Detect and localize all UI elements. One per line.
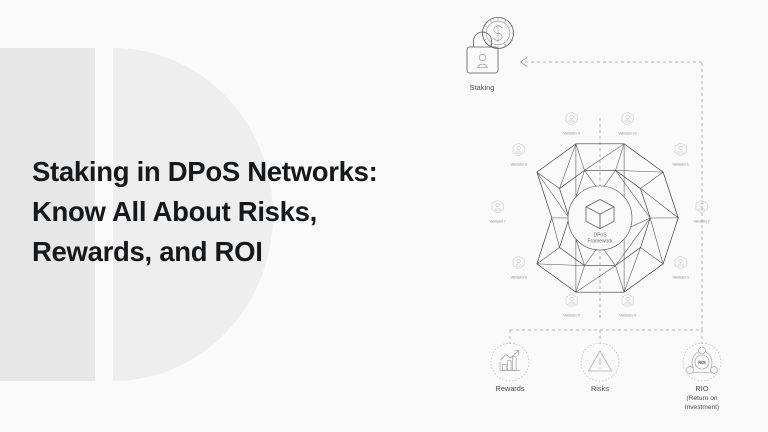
title-line-2: Know All About Risks,	[32, 192, 452, 232]
bar-chart-growth-icon	[500, 351, 520, 371]
node-validator-1[interactable]: Validator 1	[672, 143, 689, 167]
node-rio[interactable]: ROI RIO (Return on Investment)	[683, 343, 721, 411]
node-risks[interactable]: Risks	[581, 343, 619, 393]
node-validator-9[interactable]: Validator 9	[563, 112, 580, 136]
risks-label: Risks	[591, 384, 609, 393]
dpos-diagram: Staking	[440, 0, 768, 432]
node-validator-7[interactable]: Validator 7	[489, 200, 506, 224]
page-title: Staking in DPoS Networks: Know All About…	[32, 152, 452, 272]
validator-1-label: Validator 1	[672, 163, 689, 167]
validator-9-label: Validator 9	[563, 132, 580, 136]
validator-5-label: Validator 5	[563, 314, 580, 318]
title-line-1: Staking in DPoS Networks:	[32, 152, 452, 192]
validator-2-label: Validator 2	[693, 220, 710, 224]
node-validator-8[interactable]: Validator 8	[510, 143, 527, 167]
title-line-3: Rewards, and ROI	[32, 232, 452, 272]
node-validator-6[interactable]: Validator 6	[510, 256, 527, 280]
rio-sub-line1: (Return on	[686, 395, 717, 402]
validator-6-label: Validator 6	[510, 276, 527, 280]
warning-triangle-icon	[589, 351, 612, 371]
staking-label: Staking	[470, 83, 495, 92]
node-staking[interactable]: Staking	[467, 18, 514, 93]
node-validator-3[interactable]: Validator 3	[672, 256, 689, 280]
svg-text:ROI: ROI	[698, 360, 705, 365]
center-label-line2: Framework	[587, 239, 613, 245]
rio-label: RIO	[695, 384, 708, 393]
validator-7-label: Validator 7	[489, 220, 506, 224]
node-validator-2[interactable]: Validator 2	[693, 200, 710, 224]
roi-coin-icon: ROI	[687, 347, 718, 373]
node-validator-10[interactable]: Validator 10	[618, 112, 636, 136]
validator-8-label: Validator 8	[510, 163, 527, 167]
banner-root: Staking in DPoS Networks: Know All About…	[0, 0, 768, 432]
padlock-icon	[467, 47, 498, 73]
node-dpos-framework[interactable]: DPoS Framework	[568, 186, 632, 250]
validator-3-label: Validator 3	[672, 276, 689, 280]
rio-sub-line2: Investment)	[685, 404, 719, 411]
validator-4-label: Validator 4	[619, 314, 636, 318]
rewards-label: Rewards	[495, 384, 524, 393]
node-validator-5[interactable]: Validator 5	[563, 294, 580, 318]
node-validator-4[interactable]: Validator 4	[619, 294, 636, 318]
node-rewards[interactable]: Rewards	[491, 343, 529, 393]
validator-10-label: Validator 10	[618, 132, 636, 136]
